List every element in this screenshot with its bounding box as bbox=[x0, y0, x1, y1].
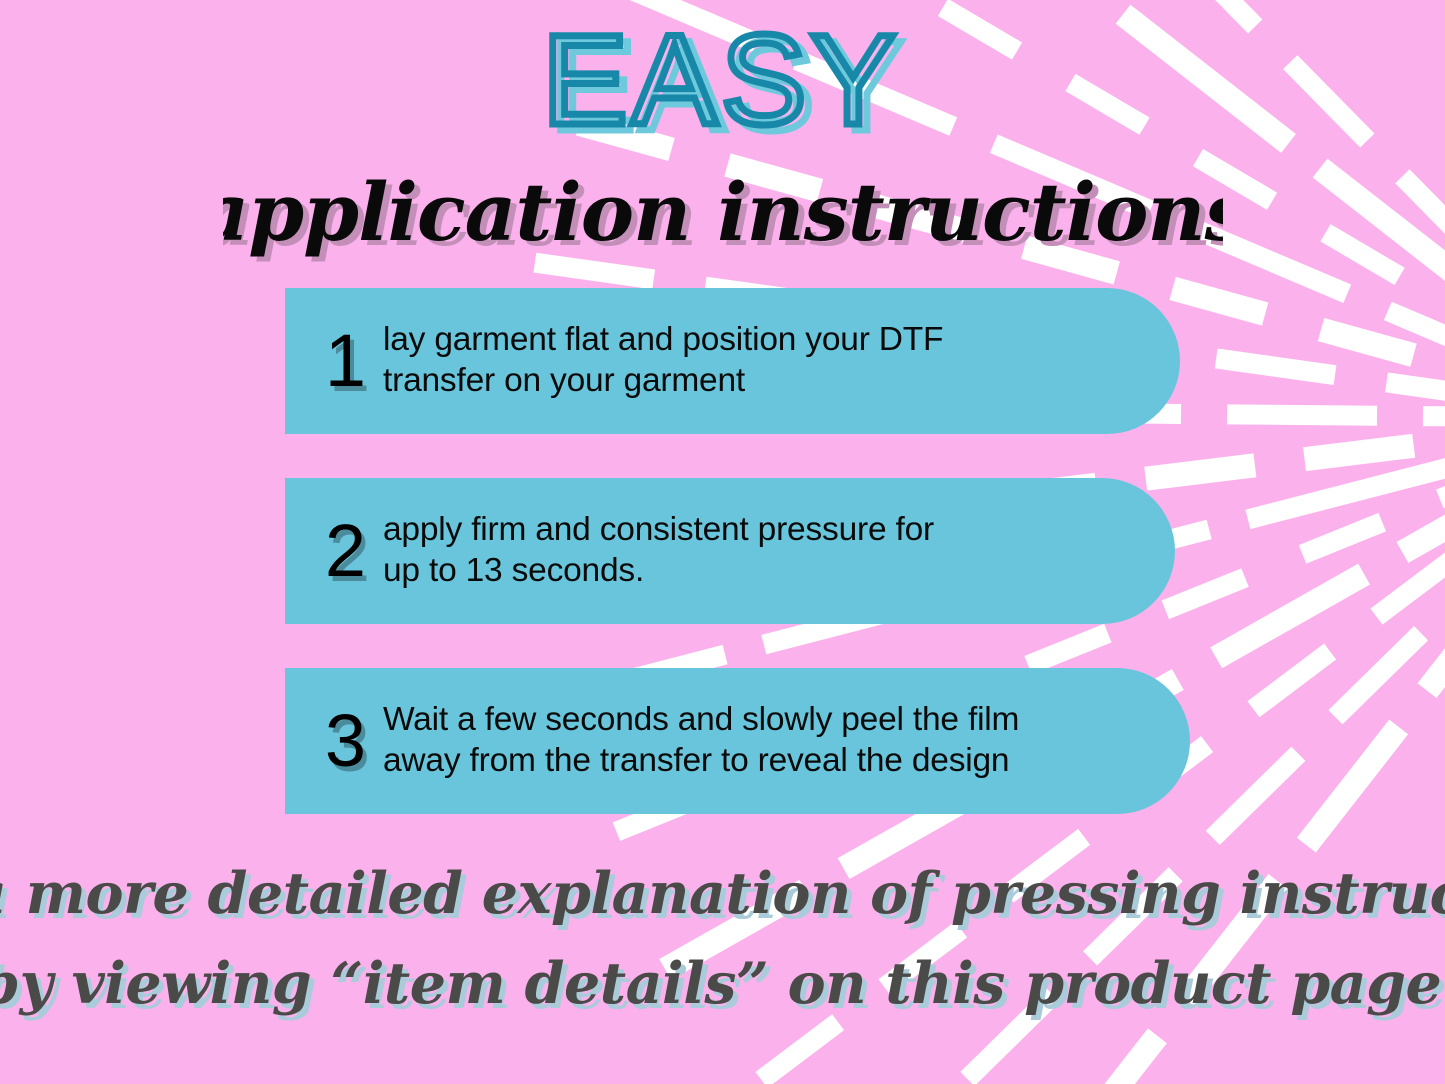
page-title: application instructions application ins… bbox=[0, 162, 1445, 272]
step-text-3-line-1: Wait a few seconds and slowly peel the f… bbox=[383, 700, 1160, 741]
step-number-3: 3 bbox=[307, 704, 383, 778]
step-number-2: 2 bbox=[307, 514, 383, 588]
page-title-text: application instructions bbox=[223, 165, 1223, 259]
step-text-3: Wait a few seconds and slowly peel the f… bbox=[383, 700, 1190, 782]
instruction-step-2: 2 apply firm and consistent pressure for… bbox=[285, 478, 1175, 624]
step-text-2: apply firm and consistent pressure for u… bbox=[383, 510, 1175, 592]
step-number-1: 1 bbox=[307, 324, 383, 398]
instruction-step-3: 3 Wait a few seconds and slowly peel the… bbox=[285, 668, 1190, 814]
step-text-2-line-1: apply firm and consistent pressure for bbox=[383, 510, 1145, 551]
step-text-1-line-1: lay garment flat and position your DTF bbox=[383, 320, 1150, 361]
step-text-1: lay garment flat and position your DTF t… bbox=[383, 320, 1180, 402]
instruction-step-1: 1 lay garment flat and position your DTF… bbox=[285, 288, 1180, 434]
step-text-3-line-2: away from the transfer to reveal the des… bbox=[383, 741, 1160, 782]
instruction-steps-list: 1 lay garment flat and position your DTF… bbox=[285, 288, 1245, 858]
eyebrow-easy: EASY EASY bbox=[0, 18, 1445, 158]
footer-line-2: by viewing “item details” on this produc… bbox=[0, 950, 1445, 1017]
application-instructions-poster: EASY EASY application instructions appli… bbox=[0, 0, 1445, 1084]
footer-line-1: find a more detailed explanation of pres… bbox=[0, 860, 1445, 927]
footer-note: find a more detailed explanation of pres… bbox=[0, 852, 1445, 1042]
step-text-1-line-2: transfer on your garment bbox=[383, 361, 1150, 402]
easy-outline-layer: EASY bbox=[542, 18, 900, 152]
step-text-2-line-2: up to 13 seconds. bbox=[383, 551, 1145, 592]
